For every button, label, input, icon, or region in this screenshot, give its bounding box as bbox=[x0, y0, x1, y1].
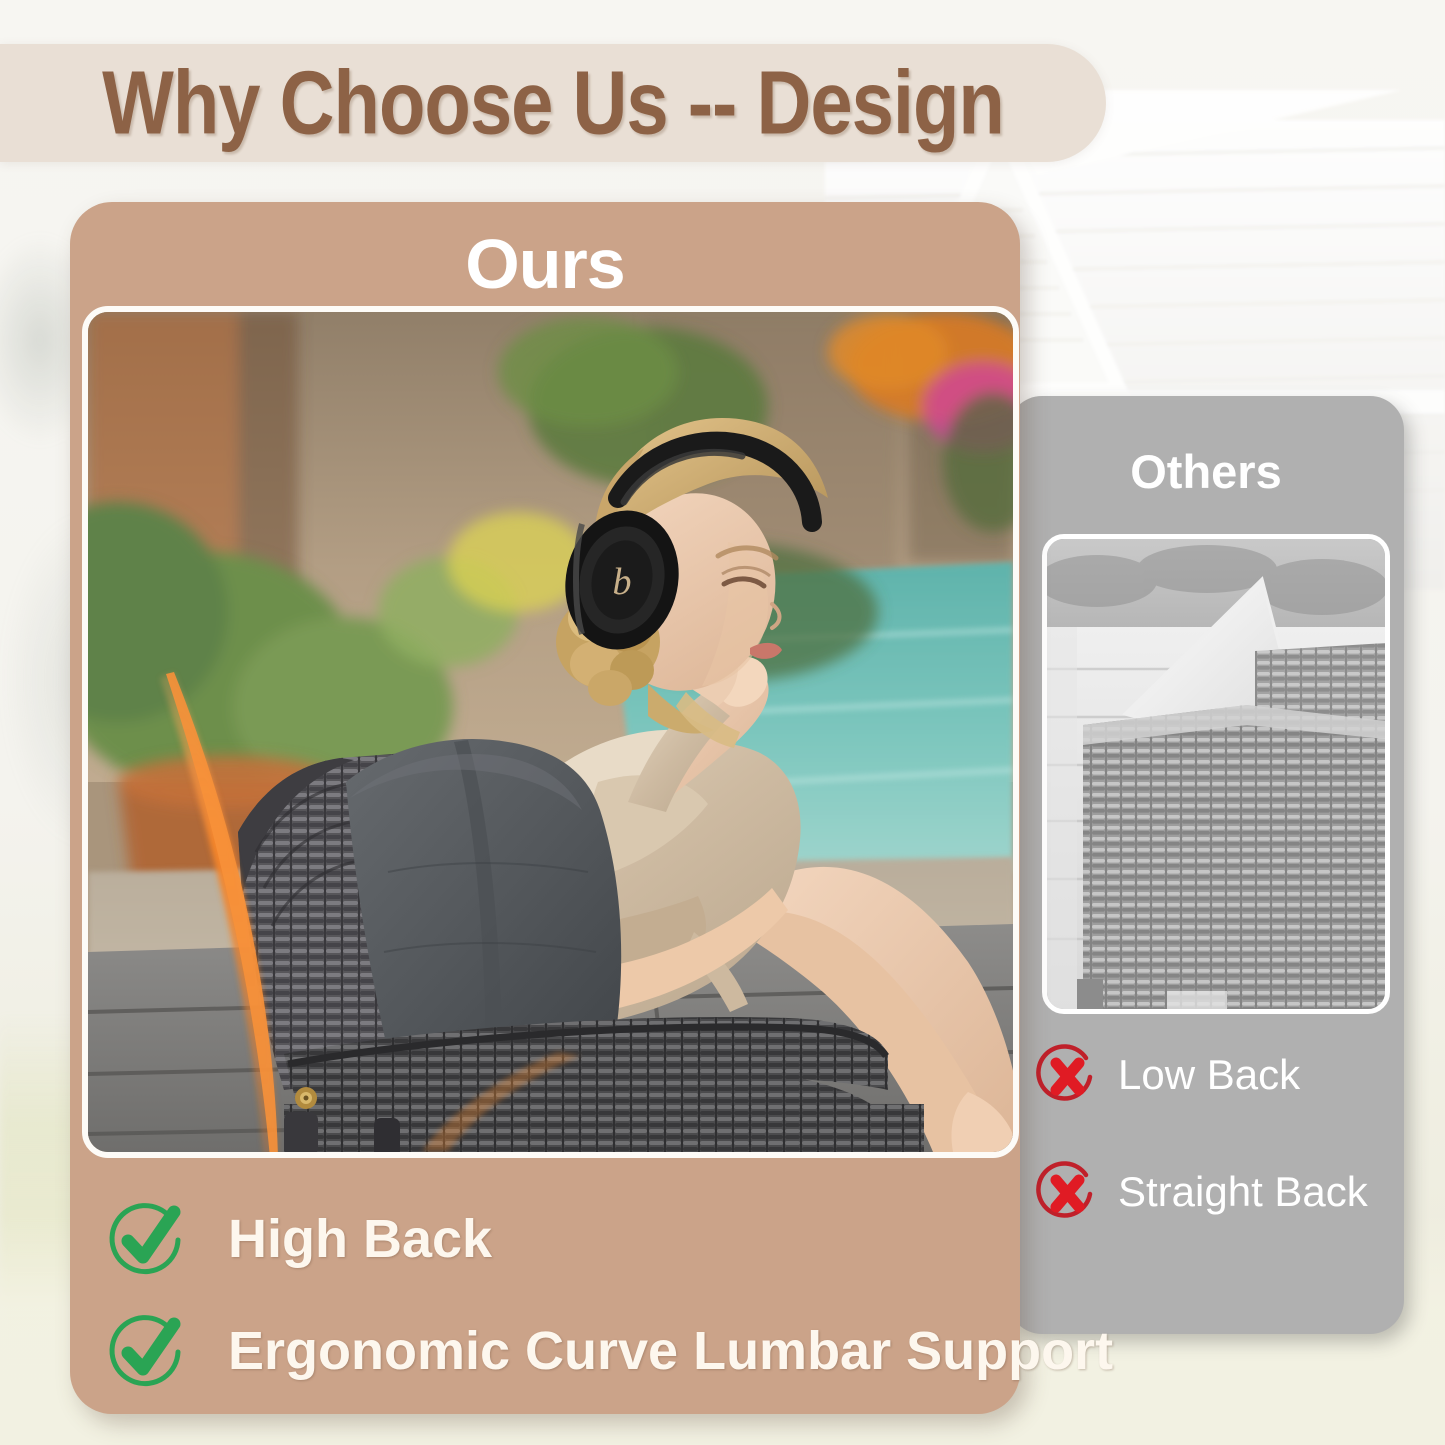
red-x-circle-icon bbox=[1036, 1044, 1098, 1106]
svg-text:b: b bbox=[613, 561, 632, 603]
ours-lifestyle-illustration: b bbox=[88, 312, 1013, 1152]
page-title: Why Choose Us -- Design bbox=[102, 52, 1004, 155]
drawback-label: Low Back bbox=[1118, 1051, 1300, 1099]
page-header-banner: Why Choose Us -- Design bbox=[0, 44, 1106, 162]
feature-label: High Back bbox=[228, 1208, 492, 1270]
feature-label: Ergonomic Curve Lumbar Support bbox=[228, 1320, 1113, 1382]
green-check-circle-icon bbox=[108, 1200, 186, 1278]
others-sofa-illustration bbox=[1047, 539, 1385, 1009]
feature-row-lumbar-support: Ergonomic Curve Lumbar Support bbox=[108, 1312, 1113, 1390]
drawback-label: Straight Back bbox=[1118, 1168, 1368, 1216]
others-product-photo bbox=[1042, 534, 1390, 1014]
drawback-row-straight-back: Straight Back bbox=[1036, 1161, 1368, 1223]
ours-panel-title: Ours bbox=[70, 224, 1020, 304]
ours-comparison-panel: Ours bbox=[70, 202, 1020, 1414]
drawback-row-low-back: Low Back bbox=[1036, 1044, 1300, 1106]
others-panel-title: Others bbox=[1008, 444, 1404, 499]
others-comparison-panel: Others bbox=[1008, 396, 1404, 1334]
ours-product-photo: b bbox=[82, 306, 1019, 1158]
feature-row-high-back: High Back bbox=[108, 1200, 492, 1278]
red-x-circle-icon bbox=[1036, 1161, 1098, 1223]
green-check-circle-icon bbox=[108, 1312, 186, 1390]
